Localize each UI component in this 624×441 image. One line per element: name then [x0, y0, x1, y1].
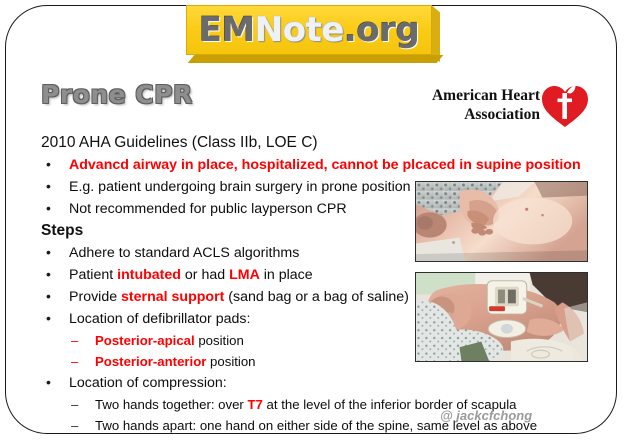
bullet-sternal-post: (sand bag or a bag of saline) — [224, 289, 409, 305]
aha-line-2: Association — [432, 105, 540, 124]
bullet-defib-pad-text: Location of defibrillator pads: — [69, 311, 250, 327]
bullet-compression-text: Location of compression: — [69, 375, 227, 391]
bullet-intubated-pre: Patient — [69, 267, 117, 283]
bullet-advanced-airway: Advancd airway in place, hospitalized, c… — [41, 154, 601, 176]
bullet-not-recommended-text: Not recommended for public layperson CPR — [69, 201, 347, 217]
bullet-brain-surgery-text: E.g. patient undergoing brain surgery in… — [69, 179, 411, 195]
page-title: Prone CPR — [41, 80, 193, 109]
hands-together-t7: T7 — [247, 397, 262, 412]
hands-together-pre: Two hands together: over — [95, 397, 247, 412]
logo-text-org: .org — [344, 10, 419, 50]
posterior-apical-keyword: Posterior-apical — [95, 333, 195, 348]
bullet-sternal-keyword: sternal support — [121, 289, 224, 305]
aha-line-1: American Heart — [432, 86, 540, 105]
presentation-slide: EMNote.org Prone CPR American Heart Asso… — [0, 0, 624, 441]
logo-text: EMNote.org — [186, 5, 432, 55]
posterior-anterior-suffix: position — [206, 354, 255, 369]
posterior-apical-suffix: position — [195, 333, 244, 348]
bullet-compression-location: Location of compression: — [41, 372, 601, 394]
author-handle: @ jackcfchong — [440, 408, 532, 423]
prone-defibrillator-pad-placement-photo — [415, 272, 588, 362]
bullet-sternal-pre: Provide — [69, 289, 121, 305]
logo-bevel-side — [432, 6, 440, 63]
bullet-acls-text: Adhere to standard ACLS algorithms — [69, 245, 299, 261]
guidelines-heading: 2010 AHA Guidelines (Class IIb, LOE C) — [41, 132, 601, 154]
bullet-lma-keyword: LMA — [229, 267, 260, 283]
bullet-intubated-mid: or had — [181, 267, 229, 283]
posterior-anterior-keyword: Posterior-anterior — [95, 354, 206, 369]
bullet-intubated-keyword: intubated — [117, 267, 181, 283]
logo-text-note: Note — [255, 10, 344, 50]
american-heart-association-logo: American Heart Association — [398, 86, 598, 130]
logo-text-em: EM — [199, 10, 255, 50]
aha-logo-text: American Heart Association — [432, 86, 540, 124]
heart-torch-icon — [540, 83, 590, 129]
logo-bevel-bottom — [188, 55, 444, 63]
bullet-intubated-post: in place — [260, 267, 313, 283]
emnote-logo[interactable]: EMNote.org — [186, 5, 440, 63]
bullet-advanced-airway-text: Advancd airway in place, hospitalized, c… — [69, 157, 581, 173]
prone-cpr-compression-photo — [415, 181, 588, 262]
